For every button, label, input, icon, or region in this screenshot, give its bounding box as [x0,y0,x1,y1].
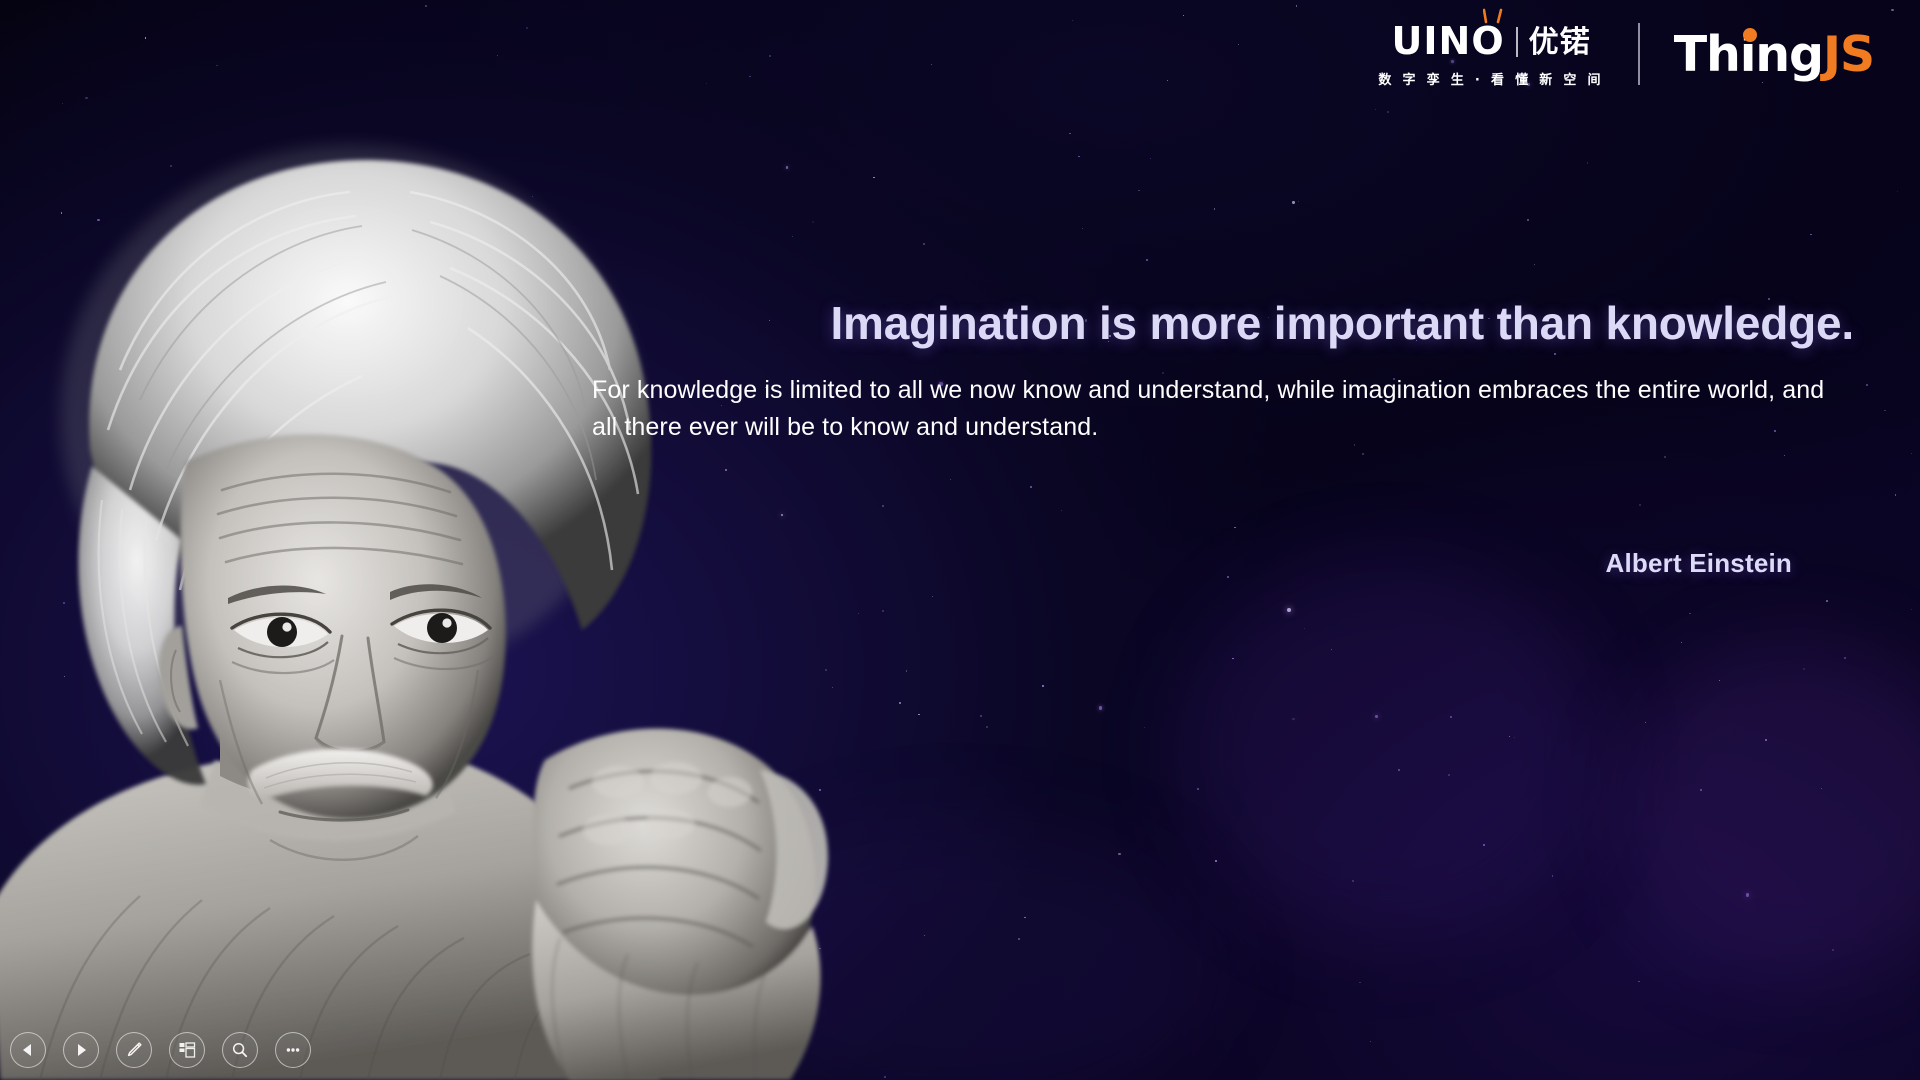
star-speck [425,5,427,7]
star-speck [1448,774,1450,776]
star-speck [884,1076,886,1078]
star-speck [352,323,354,325]
star-speck [950,479,951,480]
star-speck [1150,158,1151,159]
star-speck [1844,657,1846,659]
star-speck [1287,608,1291,612]
star-speck [97,219,99,221]
star-speck [64,676,65,677]
star-speck [1232,658,1234,660]
presentation-slide: Imagination is more important than knowl… [0,0,1920,1080]
star-speck [1061,510,1062,511]
star-speck [1042,685,1044,687]
star-speck [526,27,528,29]
uino-chinese-name: 优锘 [1529,28,1591,60]
magnifier-icon [230,1040,250,1060]
star-speck [1689,613,1690,614]
next-slide-button[interactable] [63,1032,99,1068]
star-speck [1587,162,1589,164]
thingjs-logo: ThingJS [1674,30,1874,79]
star-speck [980,715,982,717]
star-speck [532,196,533,197]
star-speck [1214,208,1215,209]
star-speck [497,55,498,56]
star-speck [1826,600,1828,602]
star-speck [1144,727,1145,728]
star-speck [1183,15,1184,16]
star-speck [832,687,834,689]
star-speck [385,195,386,196]
more-options-button[interactable] [275,1032,311,1068]
star-speck [825,669,827,671]
star-speck [1197,788,1199,790]
star-speck [1069,133,1070,134]
triangle-right-icon [73,1042,89,1058]
star-speck [1238,44,1239,45]
star-speck [725,469,727,471]
star-speck [1375,715,1378,718]
star-speck [1509,736,1510,737]
star-speck [1765,739,1767,741]
star-speck [1352,880,1354,882]
star-speck [918,714,919,715]
star-speck [1292,201,1294,203]
nebula-glow [700,820,1220,1080]
star-speck [1911,609,1912,610]
thingjs-dot-icon [1742,27,1758,43]
star-speck [812,221,814,223]
star-speck [249,710,250,711]
star-speck [1803,668,1805,670]
star-speck [786,166,788,168]
star-speck [1362,453,1364,455]
star-speck [882,505,884,507]
quote-body: For knowledge is limited to all we now k… [592,372,1854,445]
star-speck [145,37,146,38]
star-speck [1514,737,1515,738]
star-speck [819,948,821,950]
starfield [0,0,1920,1080]
star-speck [1370,1041,1371,1042]
uino-logo-row: UINO 优锘 [1392,20,1591,60]
star-speck [1030,486,1032,488]
star-speck [1832,949,1834,951]
star-speck [1681,642,1682,643]
star-speck [1234,527,1235,528]
star-speck [61,212,63,214]
star-speck [1304,628,1305,629]
grid-layout-icon [177,1040,197,1060]
star-speck [1167,80,1168,81]
star-speck [706,83,707,84]
pen-annotate-button[interactable] [116,1032,152,1068]
star-speck [85,97,87,99]
star-speck [1884,410,1886,412]
uino-antennae-icon [1483,8,1503,24]
pen-icon [124,1040,144,1060]
star-speck [1387,111,1389,113]
star-speck [63,602,65,604]
star-speck [1298,201,1299,202]
star-speck [1078,156,1080,158]
nebula-glow [1620,640,1920,980]
star-speck [1719,680,1720,681]
star-speck [858,613,860,615]
previous-slide-button[interactable] [10,1032,46,1068]
star-speck [923,243,925,245]
star-speck [1664,456,1666,458]
star-speck [1331,649,1332,650]
star-speck [1784,455,1785,456]
star-speck [1359,982,1360,983]
star-speck [1891,9,1893,11]
star-speck [1821,788,1822,789]
star-speck [1398,769,1400,771]
star-speck [932,596,933,597]
slide-overview-button[interactable] [169,1032,205,1068]
star-speck [1527,219,1529,221]
star-speck [1450,716,1452,718]
star-speck [1292,718,1295,721]
star-speck [906,670,907,671]
star-speck [1082,228,1084,230]
zoom-button[interactable] [222,1032,258,1068]
star-speck [1483,844,1485,846]
star-speck [1552,875,1554,877]
star-speck [1099,706,1103,710]
star-speck [216,65,218,67]
star-speck [1895,494,1897,496]
thingjs-js-text: JS [1823,26,1874,83]
star-speck [1645,722,1646,723]
star-speck [390,181,391,182]
star-speck [170,165,172,167]
uino-wordmark: UINO [1392,19,1505,63]
star-speck [1638,981,1640,983]
star-speck [1639,504,1641,506]
star-speck [1296,5,1298,7]
star-speck [1215,860,1217,862]
star-speck [1866,384,1868,386]
uino-logo: UINO 优锘 数 字 孪 生 · 看 懂 新 空 间 [1378,20,1603,88]
star-speck [1700,789,1702,791]
nebula-glow [1180,560,1600,940]
star-speck [1911,453,1912,454]
star-speck [1810,234,1812,236]
quote-attribution: Albert Einstein [592,548,1854,579]
triangle-left-icon [20,1042,36,1058]
star-speck [882,610,884,612]
star-speck [769,55,771,57]
slide-toolbar [10,1032,311,1068]
star-speck [924,935,925,936]
star-speck [781,514,784,517]
logo-separator [1638,23,1640,85]
star-speck [1897,191,1898,192]
star-speck [899,702,901,704]
star-speck [1534,264,1535,265]
ellipsis-icon [283,1040,303,1060]
uino-divider [1516,27,1518,57]
star-speck [986,726,988,728]
star-speck [1018,938,1020,940]
star-speck [1138,190,1139,191]
logo-bar: UINO 优锘 数 字 孪 生 · 看 懂 新 空 间 ThingJS [1378,20,1874,88]
star-speck [1118,853,1120,855]
star-speck [1746,893,1750,897]
star-speck [1375,109,1376,110]
quote-block: Imagination is more important than knowl… [592,296,1854,445]
star-speck [819,789,821,791]
page-title: Imagination is more important than knowl… [592,296,1854,350]
uino-tagline: 数 字 孪 生 · 看 懂 新 空 间 [1378,69,1603,88]
star-speck [749,76,751,78]
star-speck [1024,917,1025,918]
uino-wordmark-mark: UINO [1392,22,1505,60]
star-speck [1146,259,1148,261]
star-speck [931,64,932,65]
star-speck [1072,20,1074,22]
star-speck [792,236,794,238]
star-speck [873,177,875,179]
star-speck [62,103,63,104]
